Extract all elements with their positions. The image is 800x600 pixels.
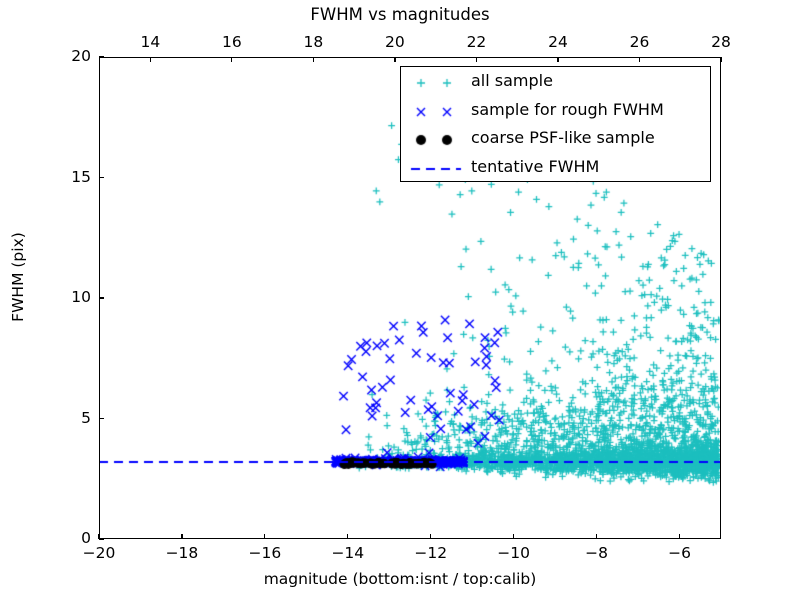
y-tick-label: 10: [7, 288, 91, 306]
cross-marker: [407, 97, 465, 126]
page-title: FWHM vs magnitudes: [0, 5, 800, 24]
legend-entry: tentative FWHM: [401, 154, 712, 183]
legend-label: tentative FWHM: [471, 157, 599, 176]
x-tick-label: −6: [640, 544, 720, 562]
plus-marker: [407, 68, 465, 97]
x-tick-label: −10: [474, 544, 554, 562]
legend-entry: coarse PSF-like sample: [401, 125, 712, 154]
dot-marker: [407, 125, 465, 154]
x-tick-label-top: 22: [436, 33, 516, 51]
x-tick-label-top: 28: [681, 33, 761, 51]
y-tick-label: 0: [7, 529, 91, 547]
dashed-line-marker: [407, 154, 465, 183]
x-tick-label: −8: [557, 544, 637, 562]
chart-legend: all samplesample for rough FWHMcoarse PS…: [400, 66, 711, 182]
x-tick-label: −12: [391, 544, 471, 562]
legend-label: all sample: [471, 71, 553, 90]
x-tick-label-top: 26: [599, 33, 679, 51]
x-tick-label: −14: [308, 544, 388, 562]
x-tick-label-top: 20: [355, 33, 435, 51]
legend-label: coarse PSF-like sample: [471, 128, 655, 147]
x-tick-label-top: 24: [518, 33, 598, 51]
figure-canvas: FWHM vs magnitudes FWHM (pix) magnitude …: [0, 0, 800, 600]
y-tick-label: 5: [7, 409, 91, 427]
x-axis-label: magnitude (bottom:isnt / top:calib): [0, 570, 800, 588]
legend-entry: all sample: [401, 68, 712, 97]
y-tick-label: 20: [7, 47, 91, 65]
y-axis-label: FWHM (pix): [9, 197, 27, 357]
legend-entry: sample for rough FWHM: [401, 97, 712, 126]
x-tick-label-top: 14: [110, 33, 190, 51]
x-tick-label-top: 16: [192, 33, 272, 51]
legend-label: sample for rough FWHM: [471, 100, 664, 119]
y-tick-label: 15: [7, 168, 91, 186]
x-tick-label: −18: [142, 544, 222, 562]
x-tick-label: −16: [225, 544, 305, 562]
x-tick-label-top: 18: [273, 33, 353, 51]
